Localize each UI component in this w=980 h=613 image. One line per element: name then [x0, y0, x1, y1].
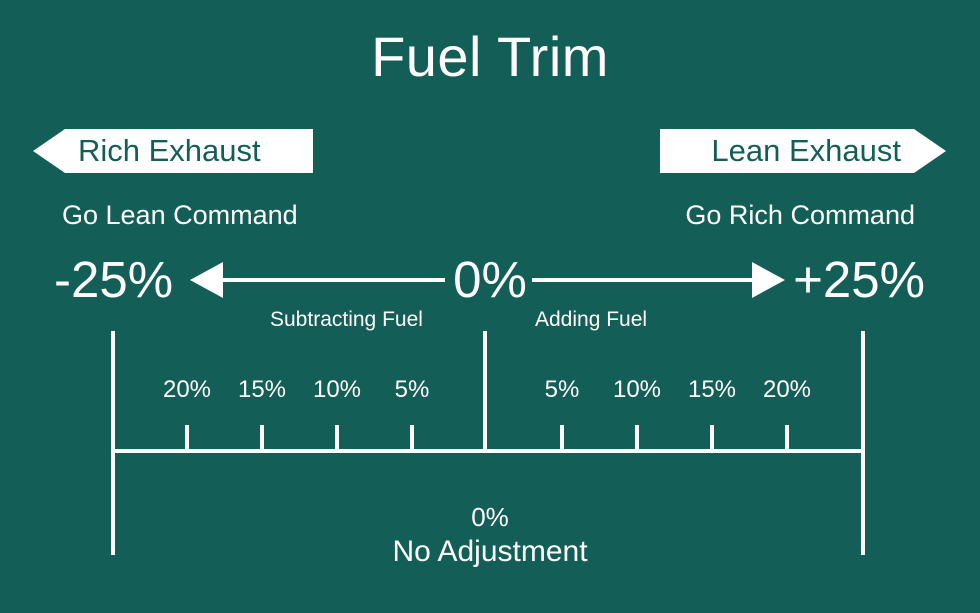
subtracting-fuel-label: Subtracting Fuel	[270, 308, 423, 332]
scale-baseline	[111, 449, 865, 453]
go-lean-command-label: Go Lean Command	[62, 200, 298, 231]
scale-tick-label: 15%	[688, 376, 736, 404]
scale-tick-label: 5%	[395, 376, 430, 404]
scale-tick	[560, 425, 564, 450]
arrow-right-shaft-icon	[532, 278, 755, 282]
scale-tick	[635, 425, 639, 450]
scale-tick-label: 15%	[238, 376, 286, 404]
scale-tick	[785, 425, 789, 450]
lean-exhaust-banner-label: Lean Exhaust	[711, 133, 901, 168]
scale-tick	[710, 425, 714, 450]
scale-tick-label: 10%	[313, 376, 361, 404]
max-value-label: +25%	[793, 250, 925, 310]
go-rich-command-label: Go Rich Command	[685, 200, 915, 231]
scale-tick-label: 20%	[763, 376, 811, 404]
scale-tick	[260, 425, 264, 450]
arrow-left-shaft-icon	[220, 278, 445, 282]
rich-exhaust-banner: Rich Exhaust	[33, 129, 313, 173]
scale-center-rule	[483, 331, 487, 452]
lean-exhaust-banner: Lean Exhaust	[660, 129, 946, 173]
scale-tick-label: 20%	[163, 376, 211, 404]
footer-note-label: No Adjustment	[0, 535, 980, 569]
arrow-right-head-icon	[752, 262, 785, 298]
arrow-right-icon	[532, 262, 785, 298]
arrow-left-icon	[190, 262, 445, 298]
scale-tick-label: 10%	[613, 376, 661, 404]
scale-tick	[335, 425, 339, 450]
fuel-trim-infographic: Fuel Trim Rich Exhaust Lean Exhaust Go L…	[0, 0, 980, 613]
scale-tick	[410, 425, 414, 450]
adding-fuel-label: Adding Fuel	[535, 308, 647, 332]
scale-tick-label: 5%	[545, 376, 580, 404]
footer-value-label: 0%	[0, 502, 980, 533]
rich-exhaust-banner-label: Rich Exhaust	[78, 133, 261, 168]
page-title: Fuel Trim	[0, 26, 980, 88]
arrow-left-head-icon	[190, 262, 223, 298]
scale-tick	[185, 425, 189, 450]
